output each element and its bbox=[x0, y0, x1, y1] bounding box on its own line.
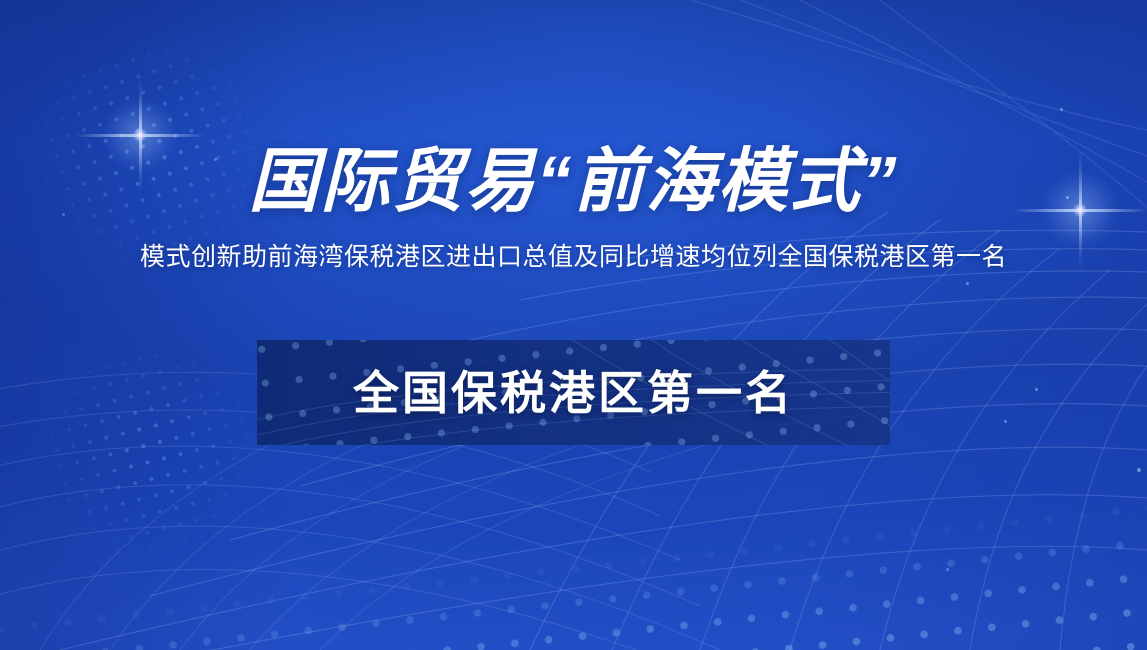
page-subtitle: 模式创新助前海湾保税港区进出口总值及同比增速均位列全国保税港区第一名 bbox=[0, 240, 1147, 274]
banner-content: 国际贸易“前海模式” 模式创新助前海湾保税港区进出口总值及同比增速均位列全国保税… bbox=[0, 0, 1147, 650]
highlight-panel: 全国保税港区第一名 bbox=[257, 340, 890, 445]
banner-canvas: 国际贸易“前海模式” 模式创新助前海湾保税港区进出口总值及同比增速均位列全国保税… bbox=[0, 0, 1147, 650]
page-title: 国际贸易“前海模式” bbox=[0, 142, 1147, 220]
highlight-badge-text: 全国保税港区第一名 bbox=[353, 367, 794, 419]
